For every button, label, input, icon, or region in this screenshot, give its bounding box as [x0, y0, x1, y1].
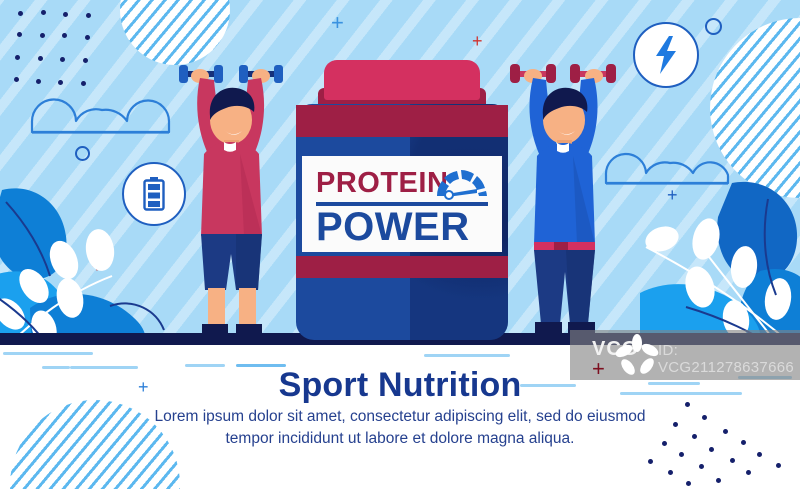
jar-stripe-bottom [296, 256, 508, 278]
accent-line-4 [424, 354, 510, 357]
ring-outline-left [75, 146, 90, 161]
jar-label: PROTEIN POWER [302, 156, 502, 252]
plus-mark-red-1: + [472, 32, 483, 50]
plus-mark-blue-1: + [331, 12, 344, 34]
speedometer-icon [433, 162, 491, 202]
cloud-left [30, 88, 175, 136]
label-power-text: POWER [316, 205, 470, 250]
protein-jar: PROTEIN POWER [296, 60, 508, 340]
flower-icon [615, 334, 659, 378]
poster-canvas: + + + + [0, 0, 800, 489]
battery-badge[interactable] [122, 162, 186, 226]
lightning-badge[interactable] [633, 22, 699, 88]
label-protein-text: PROTEIN [316, 167, 448, 200]
battery-icon [143, 177, 165, 211]
lightning-bolt-icon [653, 36, 679, 74]
page-subtitle: Lorem ipsum dolor sit amet, consectetur … [140, 406, 660, 451]
athlete-right [508, 58, 620, 336]
watermark: VCG ID: VCG211278637666 + [570, 330, 800, 380]
watermark-id: ID: VCG211278637666 [658, 342, 800, 376]
jar-lid [324, 60, 480, 100]
leaf-cluster-right [640, 175, 800, 345]
athlete-left [178, 58, 288, 336]
ring-outline-top-right [705, 18, 722, 35]
jar-stripe-top [296, 105, 508, 137]
accent-line-1 [3, 352, 93, 355]
watermark-plus-mark: + [592, 358, 605, 380]
